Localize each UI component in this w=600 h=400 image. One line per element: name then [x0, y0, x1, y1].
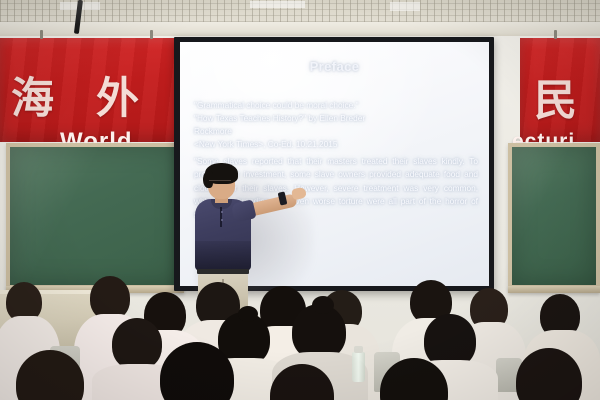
- ceiling-panel: [390, 2, 420, 11]
- presenter-placket: [220, 207, 222, 227]
- glasses-icon: [209, 180, 231, 187]
- student-hair-bun: [238, 306, 258, 322]
- banner-left: 海 外 World: [0, 38, 186, 142]
- audience: [0, 268, 600, 400]
- chalkboard-sheen: [512, 147, 596, 285]
- banner-tie: [40, 30, 43, 39]
- banner-left-char-2: 外: [96, 78, 139, 121]
- banner-right-char-1: 民: [534, 80, 577, 123]
- banner-tie: [554, 30, 557, 39]
- ceiling-panel: [250, 1, 305, 8]
- slide-line: <New York Times>, Co-Ed. 10.21.2015: [194, 138, 478, 151]
- presenter-shirt-shadow: [195, 241, 251, 271]
- bottle-cap: [354, 346, 363, 353]
- banner-left-char-1: 海: [11, 78, 54, 121]
- chalkboard-sheen: [10, 147, 180, 285]
- student-hair-bun: [312, 296, 334, 314]
- lecture-hall-photo: 海 外 World 民 ecturi Preface "Grammatical …: [0, 0, 600, 400]
- banner-right: 民 ecturi: [520, 38, 600, 142]
- water-bottle: [352, 352, 365, 382]
- ceiling: [0, 0, 600, 36]
- wristwatch-icon: [278, 191, 288, 205]
- slide-line: "Grammatical choice could be moral choic…: [194, 99, 478, 112]
- presenter-sleeve: [231, 199, 257, 222]
- banner-tie: [150, 30, 153, 39]
- student-head: [112, 318, 162, 370]
- slide-title: Preface: [180, 59, 489, 74]
- slide-line: Rockmore: [194, 125, 478, 138]
- slide-line: "How Texas Teaches History?" by Ellen Br…: [194, 112, 478, 125]
